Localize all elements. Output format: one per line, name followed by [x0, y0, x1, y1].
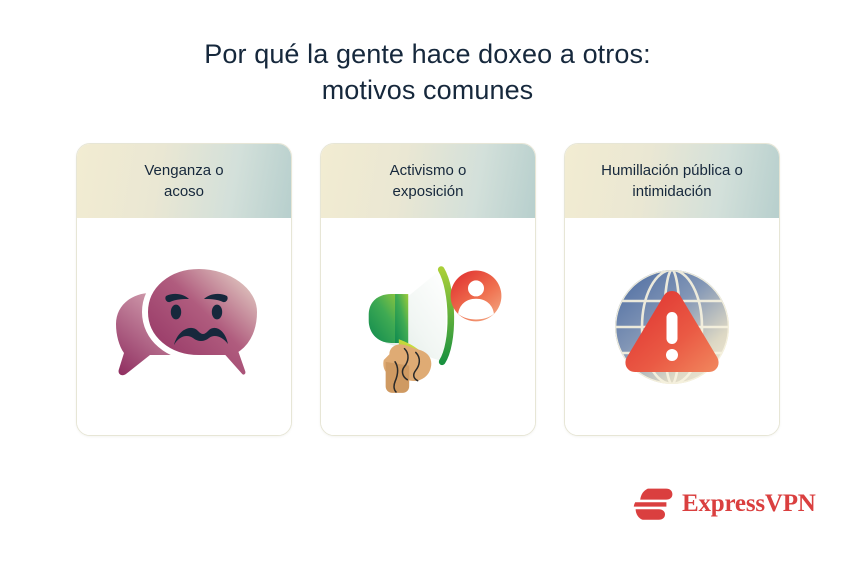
- expressvpn-e-mark-icon: [633, 487, 673, 521]
- expressvpn-wordmark: ExpressVPN: [682, 491, 816, 517]
- card-title-humillacion-line-2: intimidación: [632, 183, 711, 200]
- page-title-line-2: motivos comunes: [0, 72, 855, 108]
- card-title-venganza-line-1: Venganza o: [144, 162, 223, 179]
- card-title-humillacion: Humillación pública o intimidación: [601, 160, 743, 202]
- card-header-humillacion: Humillación pública o intimidación: [565, 144, 779, 218]
- card-body-humillacion: [565, 218, 779, 435]
- megaphone-with-user-icon: [348, 252, 508, 402]
- globe-warning-icon: [592, 252, 752, 402]
- card-humillacion-publica: Humillación pública o intimidación: [564, 143, 780, 436]
- page-title-line-1: Por qué la gente hace doxeo a otros:: [0, 36, 855, 72]
- card-row: Venganza o acoso: [76, 143, 780, 436]
- card-header-venganza: Venganza o acoso: [77, 144, 291, 218]
- card-title-activismo: Activismo o exposición: [390, 160, 467, 202]
- card-body-venganza: [77, 218, 291, 435]
- card-venganza-o-acoso: Venganza o acoso: [76, 143, 292, 436]
- card-header-activismo: Activismo o exposición: [321, 144, 535, 218]
- angry-speech-bubbles-icon: [104, 252, 264, 402]
- card-activismo-o-exposicion: Activismo o exposición: [320, 143, 536, 436]
- user-avatar-icon: [451, 270, 502, 321]
- card-title-humillacion-line-1: Humillación pública o: [601, 162, 743, 179]
- card-title-venganza-line-2: acoso: [164, 183, 204, 200]
- card-title-activismo-line-2: exposición: [393, 183, 464, 200]
- card-body-activismo: [321, 218, 535, 435]
- card-title-activismo-line-1: Activismo o: [390, 162, 467, 179]
- page-title: Por qué la gente hace doxeo a otros: mot…: [0, 36, 855, 108]
- card-title-venganza: Venganza o acoso: [144, 160, 223, 202]
- expressvpn-logo: ExpressVPN: [633, 483, 793, 525]
